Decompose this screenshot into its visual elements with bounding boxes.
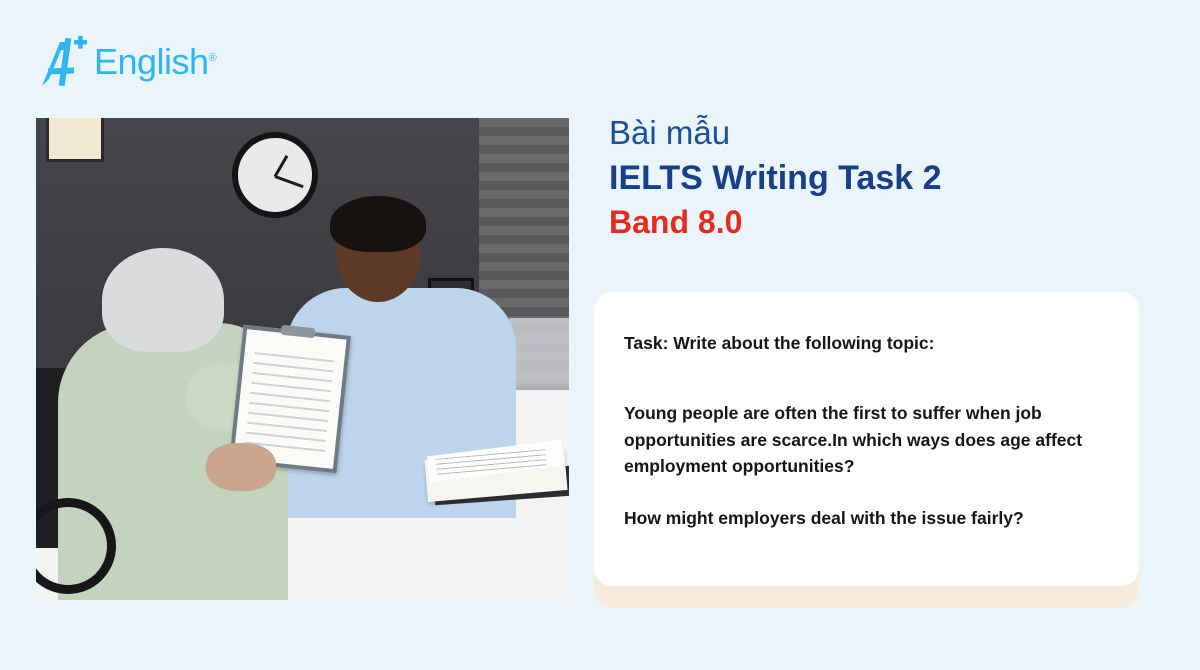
task-prompt: Young people are often the first to suff… [624,400,1109,479]
band-score: Band 8.0 [609,202,1149,242]
task-label: Task: Write about the following topic: [624,330,1109,356]
woman-hands [206,443,276,491]
subtitle: Bài mẫu [609,112,1149,153]
a-plus-icon [36,34,90,90]
registered-icon: ® [209,52,217,64]
page-title: IELTS Writing Task 2 [609,157,1149,200]
woman-hair [102,248,224,352]
brand-logo: English® [36,34,216,90]
task-card: Task: Write about the following topic: Y… [594,292,1139,586]
brand-name: English® [94,44,216,80]
task-question: How might employers deal with the issue … [624,505,1109,531]
clipboard-clip [281,325,316,338]
photo-illustration [36,118,569,600]
wall-clock-icon [232,132,318,218]
slide-canvas: English® [0,0,1200,670]
task-card-wrapper: Task: Write about the following topic: Y… [594,292,1139,608]
headings: Bài mẫu IELTS Writing Task 2 Band 8.0 [609,112,1149,242]
clipboard-text-lines [244,352,334,458]
wall-frame-left [46,118,104,162]
man-hair [330,196,426,252]
brand-name-text: English [94,41,209,82]
interview-photo [36,118,569,600]
